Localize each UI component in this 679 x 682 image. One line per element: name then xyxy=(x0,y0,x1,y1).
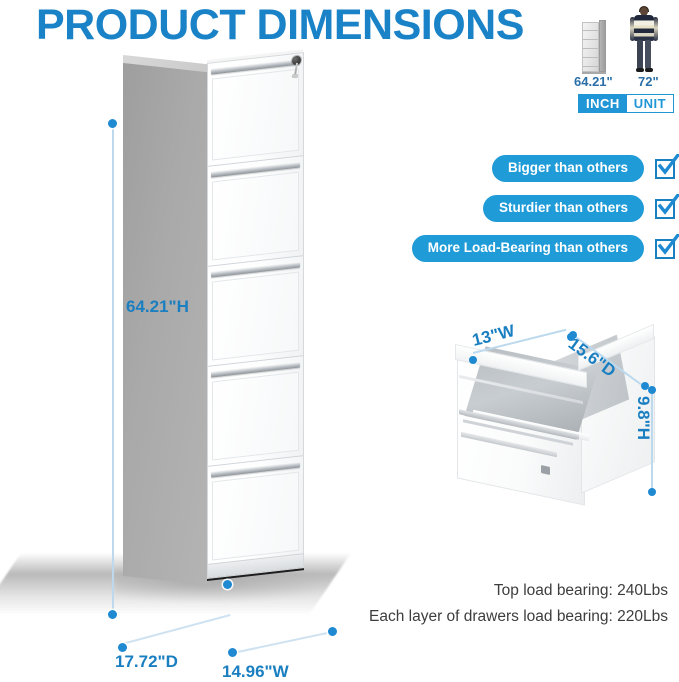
cabinet-height-compare-label: 64.21" xyxy=(574,74,613,89)
feature-list: Bigger than others Sturdier than others … xyxy=(405,155,679,270)
mini-drawer-line xyxy=(583,48,598,49)
check-mark xyxy=(656,194,679,218)
cabinet-front xyxy=(207,52,304,579)
cabinet-side-panel xyxy=(123,63,210,585)
height-dimension-endpoint-bottom xyxy=(108,610,117,619)
person-leg-left xyxy=(637,40,643,69)
person-leg-right xyxy=(645,40,651,69)
cabinet-drawer-4[interactable] xyxy=(208,356,303,467)
infographic-canvas: PRODUCT DIMENSIONS xyxy=(0,0,679,637)
width-dimension-endpoint-a xyxy=(228,648,237,657)
unit-badge-value: INCH xyxy=(579,95,627,112)
cabinet-drawer-5[interactable] xyxy=(208,456,303,566)
unit-badge: INCH UNIT xyxy=(578,94,674,113)
drawer-height-label: 9.8"H xyxy=(633,396,653,440)
checkbox-checked-icon xyxy=(655,197,679,221)
mini-drawer-line xyxy=(583,57,598,58)
comparison-figures xyxy=(572,6,677,74)
cabinet-drawer-1[interactable] xyxy=(208,53,303,167)
person-height-compare-label: 72" xyxy=(638,74,659,89)
drawer-load-bearing-note: Each layer of drawers load bearing: 220L… xyxy=(330,604,668,630)
feature-pill-bigger: Bigger than others xyxy=(492,155,644,182)
width-dimension-line xyxy=(233,631,333,654)
check-mark xyxy=(656,154,679,178)
drawer-width-endpoint-a xyxy=(469,356,477,364)
drawer-panel xyxy=(212,372,299,461)
drawer-panel xyxy=(212,472,299,561)
page-title: PRODUCT DIMENSIONS xyxy=(36,2,524,48)
load-bearing-notes: Top load bearing: 240Lbs Each layer of d… xyxy=(330,578,668,630)
checkbox-checked-icon xyxy=(655,157,679,181)
person-shoe-right xyxy=(645,68,653,72)
feature-pill-load-bearing: More Load-Bearing than others xyxy=(412,235,644,262)
check-mark xyxy=(656,234,679,258)
cabinet-illustration: 64.21"H 17.72"D 14.96"W xyxy=(95,55,345,600)
drawer-panel xyxy=(212,172,299,261)
drawer-detail-illustration: 13"W 15.6"D 9.8"H xyxy=(445,330,660,530)
mini-filing-cabinet-icon xyxy=(582,20,608,74)
size-comparison-widget: 64.21" 72" INCH UNIT xyxy=(572,6,677,110)
cabinet-drawer-3[interactable] xyxy=(208,256,303,367)
unit-badge-label: UNIT xyxy=(627,95,673,112)
mini-cabinet-side xyxy=(599,20,606,72)
top-load-bearing-note: Top load bearing: 240Lbs xyxy=(330,578,668,604)
height-dimension-endpoint-top xyxy=(108,119,117,128)
cabinet-height-label: 64.21"H xyxy=(126,297,189,317)
mini-drawer-line xyxy=(583,66,598,67)
cabinet-drawer-2[interactable] xyxy=(208,156,303,267)
mini-drawer-line xyxy=(583,39,598,40)
drawer-height-endpoint-a xyxy=(648,386,656,394)
cabinet-depth-label: 17.72"D xyxy=(115,652,178,672)
drawer-panel xyxy=(212,69,299,161)
cabinet-width-label: 14.96"W xyxy=(222,662,289,682)
person-shoe-left xyxy=(636,68,644,72)
person-torso xyxy=(634,15,654,41)
mini-drawer-line xyxy=(583,30,598,31)
drawer-slide-knob xyxy=(541,465,550,475)
person-figure-icon xyxy=(624,7,664,74)
feature-item: Bigger than others xyxy=(405,155,679,182)
depth-dimension-endpoint-b xyxy=(118,643,127,652)
feature-item: More Load-Bearing than others xyxy=(405,235,679,262)
drawer-height-endpoint-b xyxy=(648,488,656,496)
height-dimension-line xyxy=(112,127,114,616)
comparison-labels: 64.21" 72" xyxy=(572,74,677,92)
checkbox-checked-icon xyxy=(655,237,679,261)
drawer-panel xyxy=(212,272,299,361)
depth-dimension-line xyxy=(122,614,231,645)
feature-item: Sturdier than others xyxy=(405,195,679,222)
depth-dimension-endpoint-a xyxy=(223,580,232,589)
feature-pill-sturdier: Sturdier than others xyxy=(483,195,644,222)
